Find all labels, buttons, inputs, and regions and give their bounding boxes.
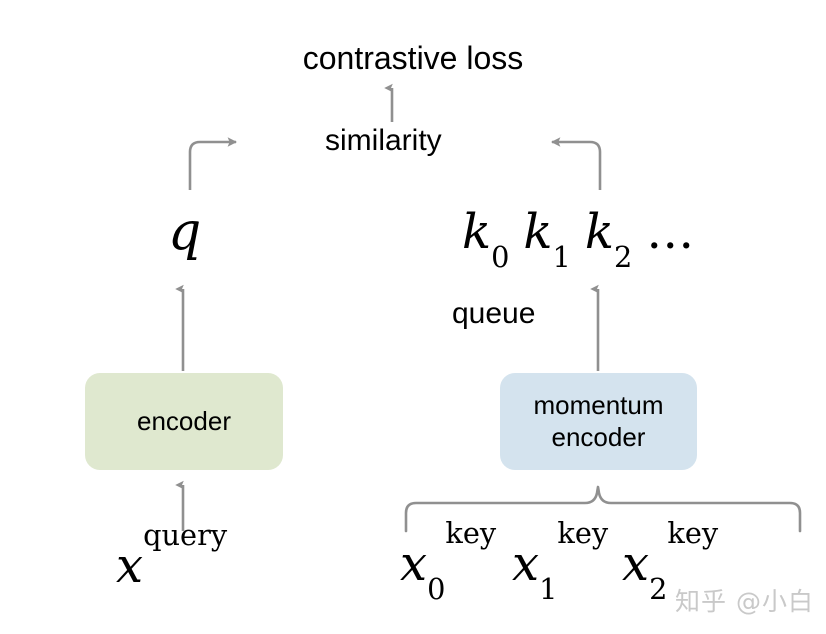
xkey2-subscript: 2 — [649, 572, 667, 606]
k1-symbol: k — [523, 204, 552, 260]
xquery-symbol: x — [116, 538, 143, 594]
key-input-x1: x1key — [512, 540, 608, 588]
xkey2-superscript: key — [667, 516, 718, 550]
key-vectors-queue: k0k1k2… — [462, 208, 696, 256]
query-vector-q: q — [168, 206, 201, 258]
k2-symbol: k — [585, 204, 614, 260]
encoder-box[interactable]: encoder — [85, 373, 283, 470]
key-vector-k0: k0 — [462, 204, 509, 260]
encoder-box-label: encoder — [137, 406, 231, 438]
key-input-x0: x0key — [400, 540, 496, 588]
xkey1-symbol: x — [512, 536, 539, 592]
key-vector-k1: k1 — [523, 204, 570, 260]
momentum-encoder-box-label: momentum encoder — [533, 390, 663, 453]
xkey0-symbol: x — [400, 536, 427, 592]
momentum-encoder-line2: encoder — [552, 422, 646, 452]
xkey1-superscript: key — [557, 516, 608, 550]
momentum-encoder-line1: momentum — [533, 390, 663, 420]
queue-label: queue — [452, 299, 535, 329]
k0-subscript: 0 — [491, 240, 509, 274]
xkey0-subscript: 0 — [427, 572, 445, 606]
xkey1-subscript: 1 — [539, 572, 557, 606]
xkey2-symbol: x — [622, 536, 649, 592]
k2-subscript: 2 — [614, 240, 632, 274]
xkey0-superscript: key — [445, 516, 496, 550]
similarity-label: similarity — [325, 126, 442, 156]
momentum-encoder-box[interactable]: momentum encoder — [500, 373, 697, 470]
xquery-superscript: query — [143, 518, 227, 552]
arrow-q-to-similarity — [190, 142, 236, 190]
watermark: 知乎 @小白 — [675, 582, 814, 618]
k0-symbol: k — [462, 204, 491, 260]
k1-subscript: 1 — [553, 240, 571, 274]
contrastive-loss-label: contrastive loss — [0, 42, 826, 74]
key-vector-k2: k2 — [585, 204, 632, 260]
key-input-x2: x2key — [622, 540, 718, 588]
q-symbol: q — [168, 202, 201, 262]
diagram-canvas: contrastive loss similarity queue q k0k1… — [0, 0, 826, 634]
key-ellipsis: … — [646, 204, 696, 260]
arrow-keys-to-similarity — [552, 142, 600, 190]
query-input-x: xquery — [116, 542, 227, 590]
